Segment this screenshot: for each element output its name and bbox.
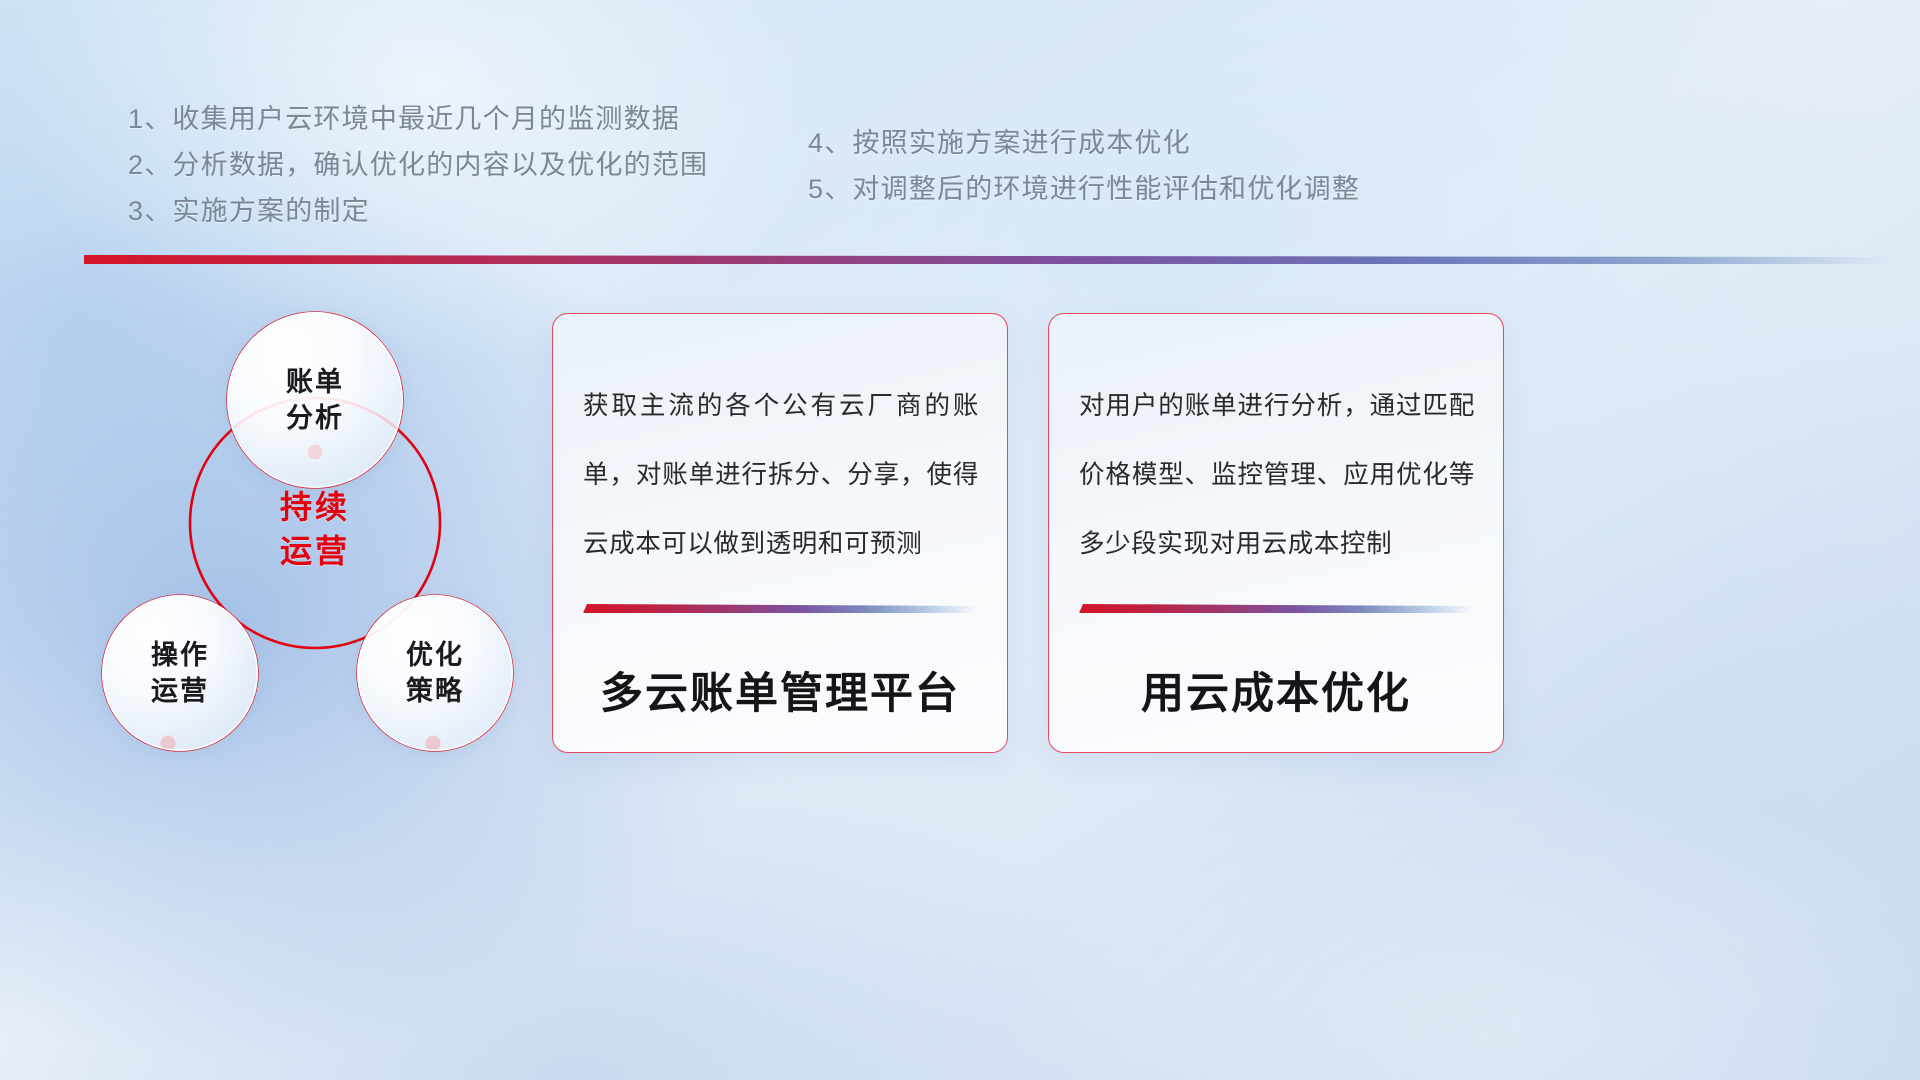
diagram-center-label-line2: 运营 bbox=[85, 529, 545, 573]
step-item-2: 2、分析数据，确认优化的内容以及优化的范围 bbox=[128, 142, 708, 188]
card-cloud-cost-optimization[interactable]: 对用户的账单进行分析，通过匹配价格模型、监控管理、应用优化等多少段实现对用云成本… bbox=[1048, 313, 1504, 753]
card-one-body: 获取主流的各个公有云厂商的账单，对账单进行拆分、分享，使得云成本可以做到透明和可… bbox=[583, 372, 979, 579]
bubble-optimization-strategy-line1: 优化 bbox=[406, 637, 464, 673]
card-two-body: 对用户的账单进行分析，通过匹配价格模型、监控管理、应用优化等多少段实现对用云成本… bbox=[1079, 372, 1475, 579]
steps-left-column: 1、收集用户云环境中最近几个月的监测数据 2、分析数据，确认优化的内容以及优化的… bbox=[128, 96, 708, 234]
step-item-4: 4、按照实施方案进行成本优化 bbox=[808, 120, 1360, 166]
bubble-bill-analysis-line2: 分析 bbox=[286, 400, 344, 436]
bubble-bill-analysis[interactable]: 账单 分析 bbox=[227, 312, 403, 488]
section-divider-rule bbox=[84, 255, 1892, 264]
card-two-title: 用云成本优化 bbox=[1049, 659, 1503, 721]
step-item-3: 3、实施方案的制定 bbox=[128, 188, 708, 234]
bubble-bill-analysis-line1: 账单 bbox=[286, 364, 344, 400]
steps-right-column: 4、按照实施方案进行成本优化 5、对调整后的环境进行性能评估和优化调整 bbox=[808, 120, 1360, 212]
bubble-operation-management[interactable]: 操作 运营 bbox=[102, 595, 258, 751]
card-two-divider bbox=[1079, 604, 1473, 613]
card-one-title: 多云账单管理平台 bbox=[553, 659, 1007, 721]
card-one-divider bbox=[583, 604, 977, 613]
continuous-operation-diagram: 账单 分析 操作 运营 优化 策略 持续 运营 bbox=[85, 295, 545, 765]
bubble-optimization-strategy-line2: 策略 bbox=[406, 673, 464, 709]
step-item-5: 5、对调整后的环境进行性能评估和优化调整 bbox=[808, 166, 1360, 212]
diagram-center-label: 持续 运营 bbox=[85, 485, 545, 573]
step-item-1: 1、收集用户云环境中最近几个月的监测数据 bbox=[128, 96, 708, 142]
bubble-optimization-strategy[interactable]: 优化 策略 bbox=[357, 595, 513, 751]
bubble-operation-management-line1: 操作 bbox=[151, 637, 209, 673]
diagram-center-label-line1: 持续 bbox=[85, 485, 545, 529]
bubble-operation-management-line2: 运营 bbox=[151, 673, 209, 709]
card-multicloud-billing-platform[interactable]: 获取主流的各个公有云厂商的账单，对账单进行拆分、分享，使得云成本可以做到透明和可… bbox=[552, 313, 1008, 753]
